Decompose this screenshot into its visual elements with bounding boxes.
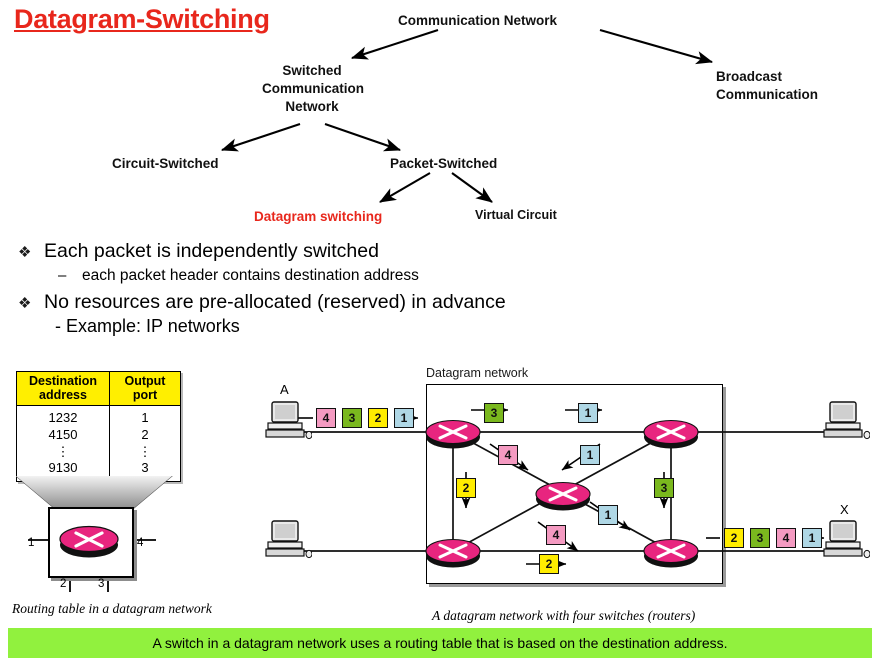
switch-box <box>48 507 134 578</box>
tree-node-switched-l3: Network <box>262 98 362 116</box>
packet: 2 <box>539 554 559 574</box>
destination-packet-train: 2 3 4 1 <box>724 528 822 548</box>
bullet-item-4: - Example: IP networks <box>55 316 638 337</box>
bullet-marker-icon: ❖ <box>18 243 44 261</box>
computer-icon <box>822 519 870 559</box>
tree-node-circuit-switched: Circuit-Switched <box>112 155 219 173</box>
cell-port: ⋮ <box>110 444 181 461</box>
table-header-row: Destination address Output port <box>17 372 181 406</box>
packet: 2 <box>368 408 388 428</box>
packet: 3 <box>342 408 362 428</box>
tree-node-switched-l2: Communication <box>262 80 362 98</box>
tree-node-switched-l1: Switched <box>262 62 362 80</box>
bullet-marker-icon: ❖ <box>18 294 44 312</box>
cell-port: 2 <box>110 427 181 444</box>
tree-node-switched: Switched Communication Network <box>262 62 362 115</box>
network-figure-caption: A datagram network with four switches (r… <box>432 608 695 624</box>
packet: 1 <box>598 505 618 525</box>
tree-node-virtual-circuit: Virtual Circuit <box>475 207 557 224</box>
cell-destination: 1232 <box>17 405 110 426</box>
source-packet-train: 4 3 2 1 <box>316 408 414 428</box>
computer-icon <box>264 400 312 440</box>
tree-node-datagram-switching: Datagram switching <box>254 208 382 226</box>
bullet-item-2: – each packet header contains destinatio… <box>58 267 638 285</box>
packet: 1 <box>578 403 598 423</box>
switch-port-label-1: 1 <box>28 537 34 549</box>
bottom-banner: A switch in a datagram network uses a ro… <box>8 628 872 658</box>
bullet-text: each packet header contains destination … <box>82 267 419 285</box>
dash-marker-icon: – <box>58 267 82 284</box>
network-figure: Datagram network <box>258 366 878 606</box>
table-row: 1232 1 <box>17 405 181 426</box>
routing-table: Destination address Output port 1232 1 4… <box>16 371 181 482</box>
router-icon <box>424 533 482 569</box>
cell-destination: ⋮ <box>17 444 110 461</box>
tree-node-broadcast: Broadcast Communication <box>716 68 836 104</box>
bullet-text: - Example: IP networks <box>55 316 240 337</box>
bullet-text: Each packet is independently switched <box>44 240 379 263</box>
switch-port-label-4: 4 <box>137 537 143 549</box>
switch-port-label-3: 3 <box>98 578 104 590</box>
tree-node-broadcast-l2: Communication <box>716 86 836 104</box>
packet: 1 <box>580 445 600 465</box>
bullet-item-1: ❖ Each packet is independently switched <box>18 240 638 263</box>
bullet-text: No resources are pre-allocated (reserved… <box>44 291 506 314</box>
hierarchy-arrows <box>0 0 880 240</box>
host-label-A: A <box>280 382 289 397</box>
packet: 3 <box>750 528 770 548</box>
packet: 4 <box>498 445 518 465</box>
packet: 1 <box>802 528 822 548</box>
tree-node-broadcast-l1: Broadcast <box>716 68 836 86</box>
packet: 4 <box>776 528 796 548</box>
packet: 1 <box>394 408 414 428</box>
packet: 4 <box>316 408 336 428</box>
computer-icon <box>822 400 870 440</box>
router-icon <box>50 509 128 572</box>
cell-port: 1 <box>110 405 181 426</box>
router-icon <box>424 414 482 450</box>
banner-text: A switch in a datagram network uses a ro… <box>152 635 727 651</box>
tree-node-packet-switched: Packet-Switched <box>390 155 497 173</box>
column-header-destination-address: Destination address <box>17 372 110 406</box>
bullet-list: ❖ Each packet is independently switched … <box>18 240 638 337</box>
cell-destination: 4150 <box>17 427 110 444</box>
packet: 2 <box>456 478 476 498</box>
packet: 3 <box>654 478 674 498</box>
packet: 4 <box>546 525 566 545</box>
routing-table-caption: Routing table in a datagram network <box>12 601 212 617</box>
packet: 2 <box>724 528 744 548</box>
bullet-item-3: ❖ No resources are pre-allocated (reserv… <box>18 291 638 314</box>
router-icon <box>642 533 700 569</box>
computer-icon <box>264 519 312 559</box>
host-label-X: X <box>840 502 849 517</box>
table-row: 4150 2 <box>17 427 181 444</box>
tree-node-root: Communication Network <box>398 12 557 30</box>
switch-port-label-2: 2 <box>60 578 66 590</box>
packet: 3 <box>484 403 504 423</box>
router-icon <box>534 476 592 512</box>
router-icon <box>642 414 700 450</box>
table-row: ⋮ ⋮ <box>17 444 181 461</box>
column-header-output-port: Output port <box>110 372 181 406</box>
